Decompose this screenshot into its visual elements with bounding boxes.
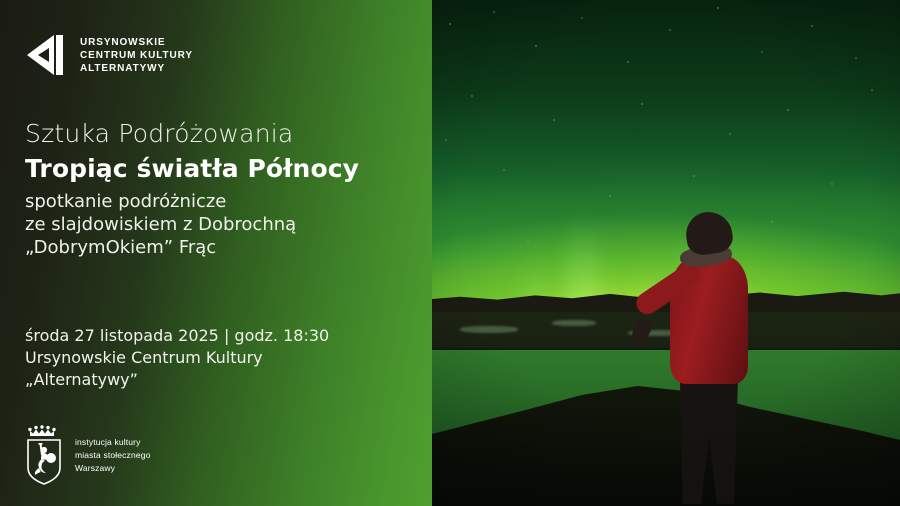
uck-triangle-a-mark-icon <box>25 31 71 79</box>
subtitle-line-2: ze slajdowiskiem z Dobrochną <box>25 213 359 236</box>
event-poster: URSYNOWSKIE CENTRUM KULTURY ALTERNATYWY … <box>0 0 900 506</box>
person-legs <box>676 378 742 504</box>
info-panel: URSYNOWSKIE CENTRUM KULTURY ALTERNATYWY … <box>0 0 432 506</box>
headline-block: Sztuka Podróżowania Tropiąc światła Półn… <box>25 118 359 259</box>
water-patch <box>460 326 518 333</box>
warsaw-logo-line-2: miasta stołecznego <box>75 450 150 461</box>
event-details: środa 27 listopada 2025 | godz. 18:30 Ur… <box>25 325 329 391</box>
uck-logo-text: URSYNOWSKIE CENTRUM KULTURY ALTERNATYWY <box>80 37 193 74</box>
venue-subname: „Alternatywy” <box>25 369 329 391</box>
uck-logo-line-1: URSYNOWSKIE <box>80 37 193 48</box>
warsaw-logo-line-3: Warszawy <box>75 463 150 474</box>
subtitle-line-3: „DobrymOkiem” Frąc <box>25 236 359 259</box>
warsaw-mermaid-crest-icon <box>22 424 66 486</box>
series-kicker: Sztuka Podróżowania <box>25 118 359 150</box>
uck-logo: URSYNOWSKIE CENTRUM KULTURY ALTERNATYWY <box>25 31 193 79</box>
water-patch <box>552 320 596 326</box>
aurora-photo <box>432 0 900 506</box>
person-silhouette <box>642 212 782 506</box>
warsaw-logo-text: instytucja kultury miasta stołecznego Wa… <box>75 437 150 474</box>
warsaw-city-logo: instytucja kultury miasta stołecznego Wa… <box>22 424 150 486</box>
venue-name: Ursynowskie Centrum Kultury <box>25 347 329 369</box>
uck-logo-line-3: ALTERNATYWY <box>80 63 193 74</box>
subtitle-line-1: spotkanie podróżnicze <box>25 190 359 213</box>
warsaw-logo-line-1: instytucja kultury <box>75 437 150 448</box>
event-subtitle: spotkanie podróżnicze ze slajdowiskiem z… <box>25 190 359 259</box>
event-title: Tropiąc światła Północy <box>25 152 359 186</box>
uck-logo-line-2: CENTRUM KULTURY <box>80 50 193 61</box>
event-datetime: środa 27 listopada 2025 | godz. 18:30 <box>25 325 329 347</box>
